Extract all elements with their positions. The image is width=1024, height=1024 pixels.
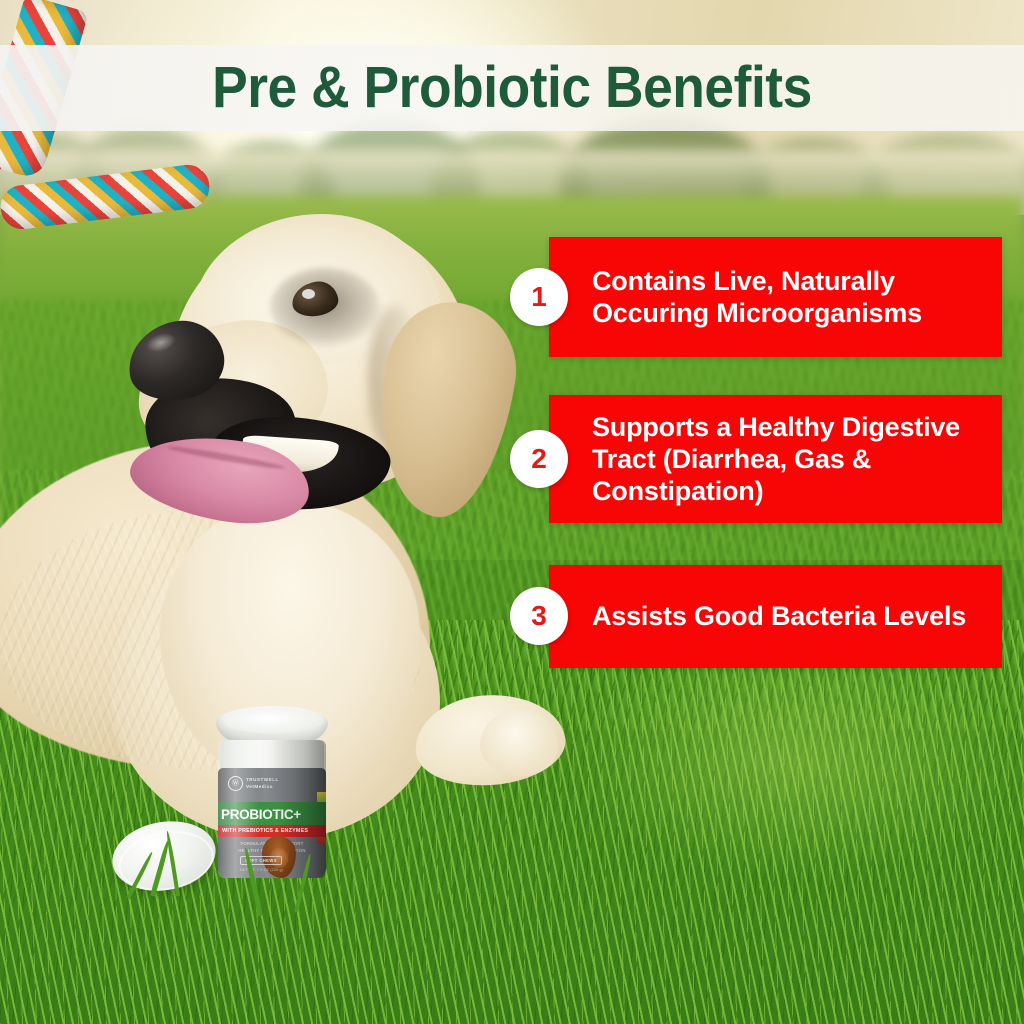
benefit-item-3: Assists Good Bacteria Levels 3 [510, 565, 1002, 668]
product-name-band: PROBIOTIC+ [218, 802, 326, 826]
dog-eye-highlight [302, 289, 315, 299]
marketing-image: Ⓦ TRUSTWELL VetMedica PROBIOTIC+ WITH PR… [0, 0, 1024, 1024]
benefit-box-3: Assists Good Bacteria Levels [549, 565, 1002, 668]
brand-logo: Ⓦ TRUSTWELL VetMedica [228, 776, 279, 791]
benefit-text-2: Supports a Healthy Digestive Tract (Diar… [549, 411, 1002, 507]
benefit-item-2: Supports a Healthy Digestive Tract (Diar… [510, 395, 1002, 523]
page-title: Pre & Probiotic Benefits [212, 59, 812, 117]
product-subtitle-band: WITH PREBIOTICS & ENZYMES [218, 825, 326, 837]
grass-highlight [560, 640, 1024, 880]
benefit-item-1: Contains Live, Naturally Occuring Microo… [510, 237, 1002, 357]
benefit-number-1: 1 [510, 268, 568, 326]
product-jar: Ⓦ TRUSTWELL VetMedica PROBIOTIC+ WITH PR… [214, 706, 330, 878]
benefit-text-1: Contains Live, Naturally Occuring Microo… [549, 265, 1002, 329]
title-banner: Pre & Probiotic Benefits [0, 45, 1024, 131]
benefit-number-2: 2 [510, 430, 568, 488]
brand-logo-text: TRUSTWELL VetMedica [246, 777, 279, 789]
product-subtitle: WITH PREBIOTICS & ENZYMES [218, 828, 308, 834]
brand-logo-mark: Ⓦ [228, 776, 243, 791]
brand-name-line2: VetMedica [246, 784, 279, 790]
product-net-weight: NET WT. 7.9 OZ (225 g) [240, 868, 283, 872]
product-name: PROBIOTIC+ [218, 807, 301, 822]
jar-lid-top [224, 708, 324, 734]
benefit-box-1: Contains Live, Naturally Occuring Microo… [549, 237, 1002, 357]
brand-name-line1: TRUSTWELL [246, 777, 279, 783]
benefit-text-3: Assists Good Bacteria Levels [549, 600, 982, 632]
benefit-number-3: 3 [510, 587, 568, 645]
dog-paw-toe [480, 710, 558, 776]
benefit-box-2: Supports a Healthy Digestive Tract (Diar… [549, 395, 1002, 523]
